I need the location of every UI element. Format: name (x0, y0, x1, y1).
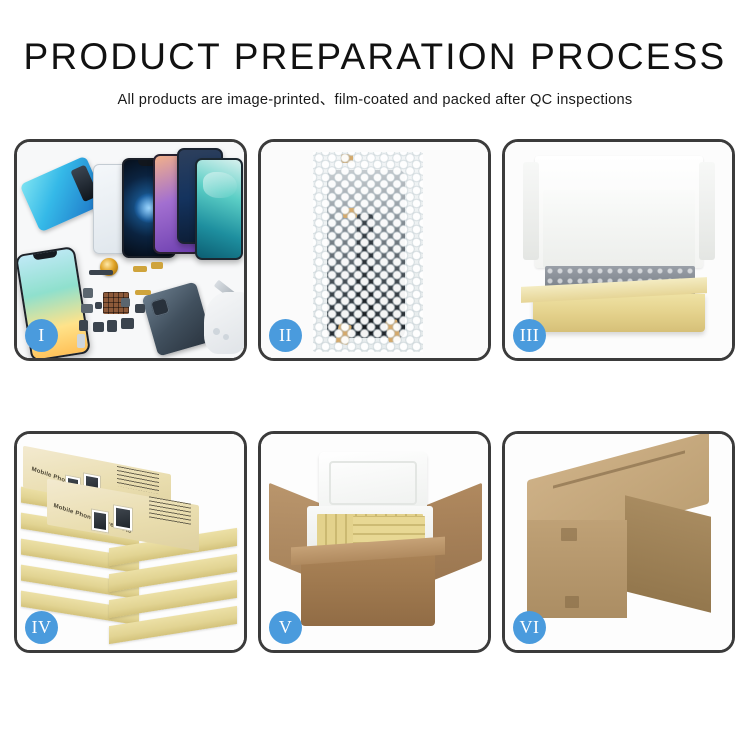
process-step-panel-3: III (502, 139, 735, 361)
part-dot-icon (93, 322, 104, 332)
page-title: PRODUCT PREPARATION PROCESS (0, 38, 750, 77)
step-badge-6: VI (513, 611, 546, 644)
part-dot-icon (133, 266, 147, 272)
step-badge-2: II (269, 319, 302, 352)
carton-body-icon (301, 554, 435, 626)
page-subtitle: All products are image-printed、film-coat… (0, 88, 750, 109)
part-dot-icon (121, 318, 134, 329)
bubble-texture-icon (313, 152, 423, 352)
part-dot-icon (135, 304, 145, 313)
yellow-box-body-icon (533, 294, 705, 332)
stacked-boxes-image: Mobile Phone Spare Parts Mobile Phone Sp… (17, 434, 244, 650)
part-dot-icon (89, 270, 113, 275)
process-step-panel-5: V (258, 431, 491, 653)
part-dot-icon (213, 328, 220, 335)
part-dot-icon (107, 320, 117, 332)
process-step-panel-4: Mobile Phone Spare Parts Mobile Phone Sp… (14, 431, 247, 653)
process-step-panel-1: I (14, 139, 247, 361)
part-dot-icon (95, 302, 102, 309)
sealed-carton-image: VI (505, 434, 732, 650)
phone-display-teal-icon (195, 158, 243, 260)
process-panel-grid: I II III (14, 139, 736, 675)
white-foam-icon (543, 190, 695, 268)
box-label-window-icon (113, 504, 133, 532)
box-label-window-icon (91, 508, 109, 533)
page-header: PRODUCT PREPARATION PROCESS All products… (0, 0, 750, 109)
carton-tab-icon (565, 596, 579, 608)
bubble-bag-icon (313, 152, 423, 352)
step-badge-4: IV (25, 611, 58, 644)
process-step-panel-6: VI (502, 431, 735, 653)
part-dot-icon (83, 288, 93, 298)
part-dot-icon (79, 320, 88, 331)
part-dot-icon (121, 298, 130, 307)
open-yellow-box-image: III (505, 142, 732, 358)
process-step-panel-2: II (258, 139, 491, 361)
step-badge-3: III (513, 319, 546, 352)
part-dot-icon (77, 334, 85, 348)
part-dot-icon (223, 334, 229, 340)
part-dot-icon (81, 304, 93, 313)
step-badge-1: I (25, 319, 58, 352)
box-stack-icon: Mobile Phone Spare Parts Mobile Phone Sp… (21, 452, 241, 642)
part-dot-icon (135, 290, 151, 295)
bubble-wrapped-screen-image: II (261, 142, 488, 358)
phone-parts-montage-image: I (17, 142, 244, 358)
carton-tab-icon (561, 528, 577, 541)
foam-lid-icon (319, 452, 427, 514)
hand-icon (204, 292, 244, 354)
carton-with-foam-image: V (261, 434, 488, 650)
part-dot-icon (151, 262, 163, 269)
step-badge-5: V (269, 611, 302, 644)
